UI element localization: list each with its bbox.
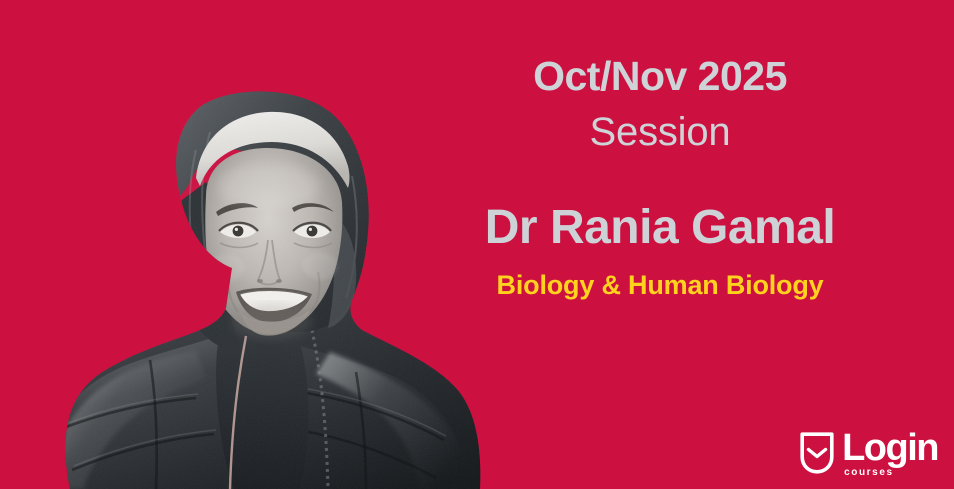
logo-wordmark: Login <box>842 431 938 466</box>
tutor-announcement-banner: Oct/Nov 2025 Session Dr Rania Gamal Biol… <box>0 0 954 489</box>
tutor-subject: Biology & Human Biology <box>400 272 920 299</box>
shield-chevron-icon <box>799 431 835 475</box>
logo-tagline: courses <box>844 468 894 478</box>
session-title-line1: Oct/Nov 2025 <box>460 56 860 97</box>
session-title-line2: Session <box>460 112 860 152</box>
login-courses-logo[interactable]: Login courses <box>799 431 938 475</box>
logo-wordmark-group: Login courses <box>842 431 938 466</box>
tutor-name: Dr Rania Gamal <box>400 204 920 252</box>
banner-text-block: Oct/Nov 2025 Session Dr Rania Gamal Biol… <box>460 0 860 489</box>
